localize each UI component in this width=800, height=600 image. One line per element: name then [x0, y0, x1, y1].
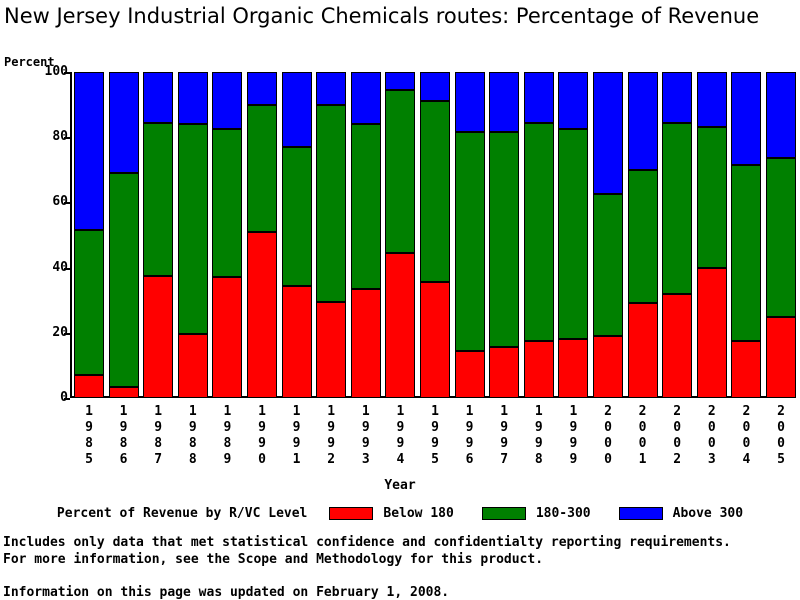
bar-stack — [74, 72, 104, 398]
bar-stack — [247, 72, 277, 398]
bar-segment-below-180 — [109, 387, 139, 398]
x-tick-label: 2003 — [697, 404, 727, 468]
bar-segment-180-300 — [558, 129, 588, 339]
updated-notice: Information on this page was updated on … — [3, 585, 449, 600]
bar-segment-180-300 — [143, 123, 173, 276]
y-tick-label: 60 — [30, 195, 68, 208]
legend-label: Above 300 — [673, 506, 743, 521]
bar-segment-180-300 — [628, 170, 658, 304]
x-tick-label: 1998 — [524, 404, 554, 468]
bar-segment-180-300 — [662, 123, 692, 294]
footnote-line-2: For more information, see the Scope and … — [3, 551, 731, 568]
bar-series-container — [70, 72, 796, 398]
bar-stack — [558, 72, 588, 398]
bar-segment-below-180 — [489, 347, 519, 398]
bar-segment-above-300 — [628, 72, 658, 170]
x-tick-label: 1996 — [455, 404, 485, 468]
bar-stack — [316, 72, 346, 398]
bar-segment-above-300 — [558, 72, 588, 129]
bar-segment-above-300 — [109, 72, 139, 173]
x-tick-label: 1999 — [558, 404, 588, 468]
y-tick-label: 80 — [30, 130, 68, 143]
legend-item: 180-300 — [482, 506, 619, 521]
bar-stack — [489, 72, 519, 398]
bar-stack — [385, 72, 415, 398]
bar-segment-above-300 — [282, 72, 312, 147]
bar-segment-180-300 — [697, 127, 727, 267]
bar-segment-180-300 — [766, 158, 796, 316]
legend-title: Percent of Revenue by R/VC Level — [57, 506, 307, 521]
x-tick-label: 2004 — [731, 404, 761, 468]
bar-stack — [628, 72, 658, 398]
x-tick-label: 1994 — [385, 404, 415, 468]
x-tick-label: 1990 — [247, 404, 277, 468]
bar-segment-above-300 — [662, 72, 692, 123]
bar-segment-above-300 — [212, 72, 242, 129]
bar-segment-below-180 — [74, 375, 104, 398]
legend-label: Below 180 — [383, 506, 453, 521]
bar-segment-180-300 — [212, 129, 242, 277]
legend-swatch — [619, 507, 663, 520]
bar-segment-above-300 — [593, 72, 623, 194]
bar-stack — [109, 72, 139, 398]
bar-segment-180-300 — [282, 147, 312, 286]
y-tick-label: 100 — [30, 65, 68, 78]
legend-label: 180-300 — [536, 506, 591, 521]
bar-segment-below-180 — [316, 302, 346, 398]
bar-segment-180-300 — [455, 132, 485, 350]
x-tick-label: 1992 — [316, 404, 346, 468]
bar-segment-above-300 — [316, 72, 346, 105]
bar-stack — [178, 72, 208, 398]
bar-segment-above-300 — [766, 72, 796, 158]
bar-segment-above-300 — [178, 72, 208, 124]
y-tick-mark — [64, 398, 70, 400]
x-tick-label: 2001 — [628, 404, 658, 468]
bar-segment-below-180 — [524, 341, 554, 398]
footnote: Includes only data that met statistical … — [3, 534, 731, 568]
bar-segment-below-180 — [593, 336, 623, 398]
bar-stack — [766, 72, 796, 398]
bar-segment-below-180 — [731, 341, 761, 398]
bar-segment-below-180 — [282, 286, 312, 398]
bar-segment-below-180 — [455, 351, 485, 398]
bar-stack — [731, 72, 761, 398]
bar-segment-below-180 — [766, 317, 796, 399]
bar-segment-above-300 — [74, 72, 104, 230]
x-tick-label: 2000 — [593, 404, 623, 468]
footnote-line-1: Includes only data that met statistical … — [3, 534, 731, 551]
bar-segment-180-300 — [351, 124, 381, 289]
bar-segment-above-300 — [455, 72, 485, 132]
x-tick-label: 1985 — [74, 404, 104, 468]
bar-stack — [351, 72, 381, 398]
bar-segment-180-300 — [731, 165, 761, 341]
x-tick-label: 1988 — [178, 404, 208, 468]
bar-segment-below-180 — [662, 294, 692, 398]
bar-segment-below-180 — [420, 282, 450, 398]
bar-segment-above-300 — [731, 72, 761, 165]
y-tick-label: 40 — [30, 261, 68, 274]
x-tick-label: 1995 — [420, 404, 450, 468]
bar-segment-below-180 — [558, 339, 588, 398]
legend-items: Below 180180-300Above 300 — [329, 506, 743, 521]
bar-segment-above-300 — [697, 72, 727, 127]
x-tick-label: 1991 — [282, 404, 312, 468]
bar-segment-180-300 — [385, 90, 415, 253]
x-axis-label: Year — [0, 478, 800, 493]
bar-segment-above-300 — [489, 72, 519, 132]
y-tick-label: 20 — [30, 326, 68, 339]
bar-segment-below-180 — [247, 232, 277, 398]
bar-segment-180-300 — [74, 230, 104, 375]
bar-stack — [420, 72, 450, 398]
bar-segment-above-300 — [351, 72, 381, 124]
bar-segment-180-300 — [178, 124, 208, 334]
bar-stack — [212, 72, 242, 398]
chart-title: New Jersey Industrial Organic Chemicals … — [4, 4, 759, 28]
y-tick-label: 0 — [30, 391, 68, 404]
bar-segment-below-180 — [697, 268, 727, 398]
bar-stack — [662, 72, 692, 398]
bar-stack — [524, 72, 554, 398]
bar-segment-below-180 — [628, 303, 658, 398]
bar-segment-180-300 — [316, 105, 346, 302]
x-tick-label: 2002 — [662, 404, 692, 468]
bar-stack — [282, 72, 312, 398]
bar-segment-above-300 — [420, 72, 450, 101]
legend-swatch — [482, 507, 526, 520]
bar-segment-below-180 — [212, 277, 242, 398]
x-tick-label: 1987 — [143, 404, 173, 468]
bar-segment-180-300 — [524, 123, 554, 341]
legend: Percent of Revenue by R/VC Level Below 1… — [0, 503, 800, 523]
x-tick-label: 2005 — [766, 404, 796, 468]
bar-segment-below-180 — [385, 253, 415, 398]
bar-stack — [593, 72, 623, 398]
x-tick-label: 1997 — [489, 404, 519, 468]
bar-stack — [697, 72, 727, 398]
bar-stack — [455, 72, 485, 398]
legend-swatch — [329, 507, 373, 520]
bar-segment-above-300 — [143, 72, 173, 123]
bar-stack — [143, 72, 173, 398]
bar-segment-above-300 — [247, 72, 277, 105]
bar-segment-below-180 — [351, 289, 381, 398]
bar-segment-below-180 — [178, 334, 208, 398]
x-tick-label: 1993 — [351, 404, 381, 468]
x-tick-label: 1989 — [212, 404, 242, 468]
bar-segment-above-300 — [524, 72, 554, 123]
bar-segment-180-300 — [247, 105, 277, 232]
bar-segment-180-300 — [593, 194, 623, 336]
x-tick-label: 1986 — [109, 404, 139, 468]
plot-area: 020406080100 — [70, 72, 796, 398]
bar-segment-180-300 — [420, 101, 450, 282]
bar-segment-180-300 — [489, 132, 519, 347]
legend-item: Above 300 — [619, 506, 743, 521]
bar-segment-below-180 — [143, 276, 173, 398]
bar-segment-above-300 — [385, 72, 415, 90]
bar-segment-180-300 — [109, 173, 139, 387]
legend-item: Below 180 — [329, 506, 481, 521]
